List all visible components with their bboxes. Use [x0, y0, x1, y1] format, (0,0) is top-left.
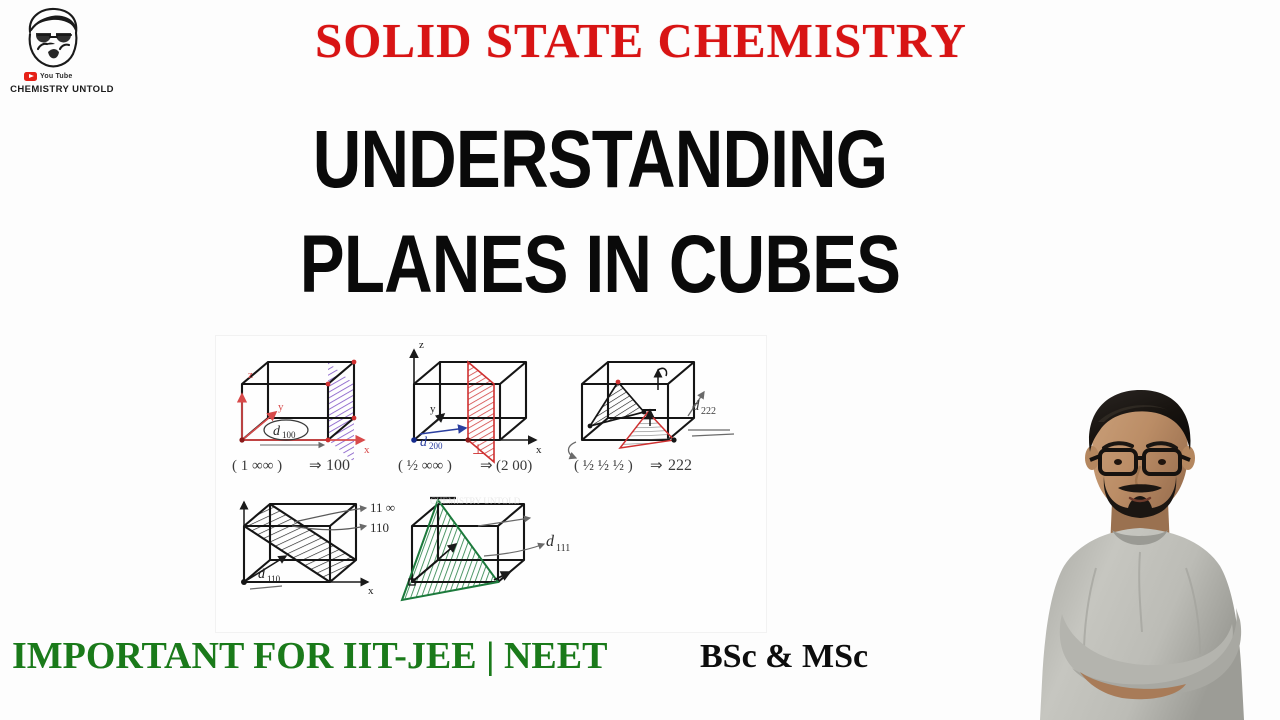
cube-200: z y x d 200 ⊥ ( ½ ∞∞ ) ⇒ (2 00): [398, 339, 542, 474]
planes-diagram: d 100 ( 1 ∞∞ ) ⇒ 100 z y x: [216, 336, 766, 632]
svg-text:d: d: [420, 435, 428, 450]
thumbnail-canvas: You Tube CHEMISTRY UNTOLD SOLID STATE CH…: [0, 0, 1280, 720]
cube-111: d 111 CHEMISTRY UNTOLD: [402, 496, 570, 600]
svg-text:y: y: [430, 403, 436, 415]
svg-text:d: d: [258, 567, 266, 582]
svg-text:( ½ ∞∞ ): ( ½ ∞∞ ): [398, 458, 452, 474]
channel-branding: You Tube CHEMISTRY UNTOLD: [6, 4, 116, 104]
svg-text:z: z: [419, 339, 424, 351]
svg-text:d: d: [546, 533, 555, 550]
instructor-photo: [1000, 352, 1280, 720]
svg-text:110: 110: [370, 520, 389, 535]
svg-text:CHEMISTRY UNTOLD: CHEMISTRY UNTOLD: [430, 496, 521, 506]
kicker-subject: SOLID STATE CHEMISTRY: [186, 16, 1096, 65]
svg-text:100: 100: [282, 430, 296, 440]
svg-text:d: d: [273, 424, 281, 439]
svg-text:⇒: ⇒: [650, 458, 663, 474]
svg-text:110: 110: [267, 574, 281, 584]
svg-text:y: y: [278, 401, 284, 413]
svg-text:⊥: ⊥: [472, 443, 484, 458]
svg-text:x: x: [368, 585, 374, 597]
svg-text:100: 100: [326, 457, 350, 474]
svg-text:⇒: ⇒: [480, 458, 493, 474]
title-line-2: PLANES IN CUBES: [231, 213, 969, 318]
audience-primary: IMPORTANT FOR IIT-JEE | NEET: [12, 634, 607, 678]
svg-text:z: z: [248, 369, 253, 381]
svg-text:111: 111: [556, 543, 570, 554]
page-title: UNDERSTANDING PLANES IN CUBES: [231, 108, 969, 318]
audience-secondary: BSc & MSc: [700, 638, 868, 676]
cube-110: x d 110 11 ∞ 110: [241, 500, 395, 597]
svg-text:222: 222: [668, 457, 692, 474]
svg-text:( 1 ∞∞ ): ( 1 ∞∞ ): [232, 458, 282, 474]
svg-text:⇒: ⇒: [309, 458, 322, 474]
svg-text:200: 200: [429, 441, 443, 451]
youtube-label: You Tube: [40, 73, 72, 80]
svg-text:x: x: [364, 444, 370, 456]
svg-text:x: x: [536, 444, 542, 456]
footer-strip: IMPORTANT FOR IIT-JEE | NEET BSc & MSc: [0, 634, 1000, 690]
face-line-art-icon: [14, 4, 92, 72]
cube-100: d 100 ( 1 ∞∞ ) ⇒ 100 z y x: [232, 360, 370, 474]
svg-text:(2 00): (2 00): [496, 458, 532, 474]
svg-text:11 ∞: 11 ∞: [370, 500, 395, 515]
svg-text:d: d: [692, 398, 700, 414]
youtube-badge: You Tube: [24, 72, 72, 81]
svg-text:222: 222: [701, 406, 716, 417]
title-line-1: UNDERSTANDING: [313, 114, 888, 205]
youtube-play-icon: [24, 72, 37, 81]
cube-222: d 222 ( ½ ½ ½ ) ⇒ 222: [569, 362, 735, 474]
channel-name: CHEMISTRY UNTOLD: [10, 84, 114, 95]
svg-text:( ½ ½ ½ ): ( ½ ½ ½ ): [574, 458, 633, 474]
